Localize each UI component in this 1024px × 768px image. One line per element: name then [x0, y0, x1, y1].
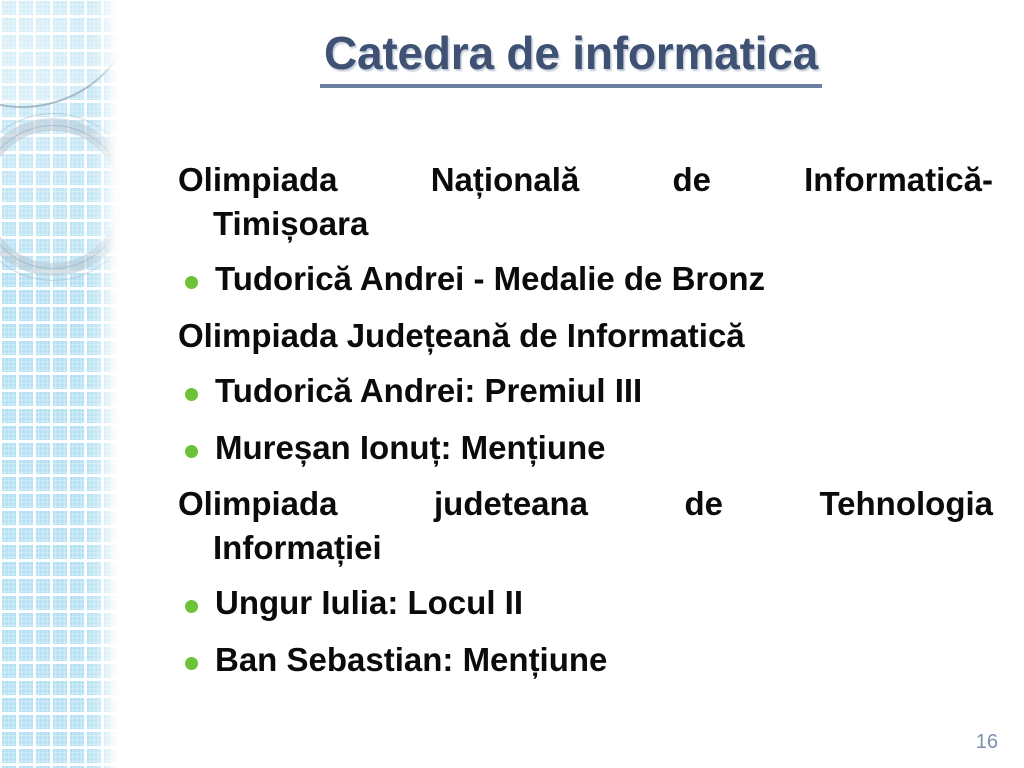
list-item-line: Olimpiada Națională de Informatică-: [178, 158, 993, 202]
bullet-icon: [185, 276, 198, 289]
list-item: Ungur Iulia: Locul II: [178, 581, 993, 625]
list-item-label: Ungur Iulia: Locul II: [215, 584, 523, 621]
list-item-label: Olimpiada Județeană de Informatică: [178, 314, 993, 358]
bullet-icon: [185, 600, 198, 613]
slide-canvas: Catedra de informatica Olimpiada Naționa…: [0, 0, 1024, 768]
list-item: Tudorică Andrei - Medalie de Bronz: [178, 257, 993, 301]
list-item: Mureșan Ionuț: Mențiune: [178, 426, 993, 470]
list-item: Olimpiada Județeană de Informatică: [178, 314, 993, 358]
content-list: Olimpiada Națională de Informatică- Timi…: [178, 158, 993, 694]
list-item-label: Tudorică Andrei - Medalie de Bronz: [215, 260, 765, 297]
list-item-line: Timișoara: [178, 202, 993, 246]
list-item: Ban Sebastian: Mențiune: [178, 638, 993, 682]
list-item-line: Informației: [178, 526, 993, 570]
page-title: Catedra de informatica: [140, 26, 1002, 88]
list-item-label: Ban Sebastian: Mențiune: [215, 641, 607, 678]
list-item-line: Olimpiada judeteana de Tehnologia: [178, 482, 993, 526]
bullet-icon: [185, 445, 198, 458]
bullet-icon: [185, 657, 198, 670]
bullet-icon: [185, 388, 198, 401]
page-number: 16: [976, 731, 998, 754]
page-title-text: Catedra de informatica: [320, 26, 822, 88]
list-item-label: Mureșan Ionuț: Mențiune: [215, 429, 606, 466]
list-item: Olimpiada Națională de Informatică- Timi…: [178, 158, 993, 245]
list-item: Olimpiada judeteana de Tehnologia Inform…: [178, 482, 993, 569]
panel-fade-overlay: [0, 0, 122, 768]
list-item-label: Tudorică Andrei: Premiul III: [215, 372, 642, 409]
decorative-side-panel: [0, 0, 122, 768]
list-item: Tudorică Andrei: Premiul III: [178, 369, 993, 413]
